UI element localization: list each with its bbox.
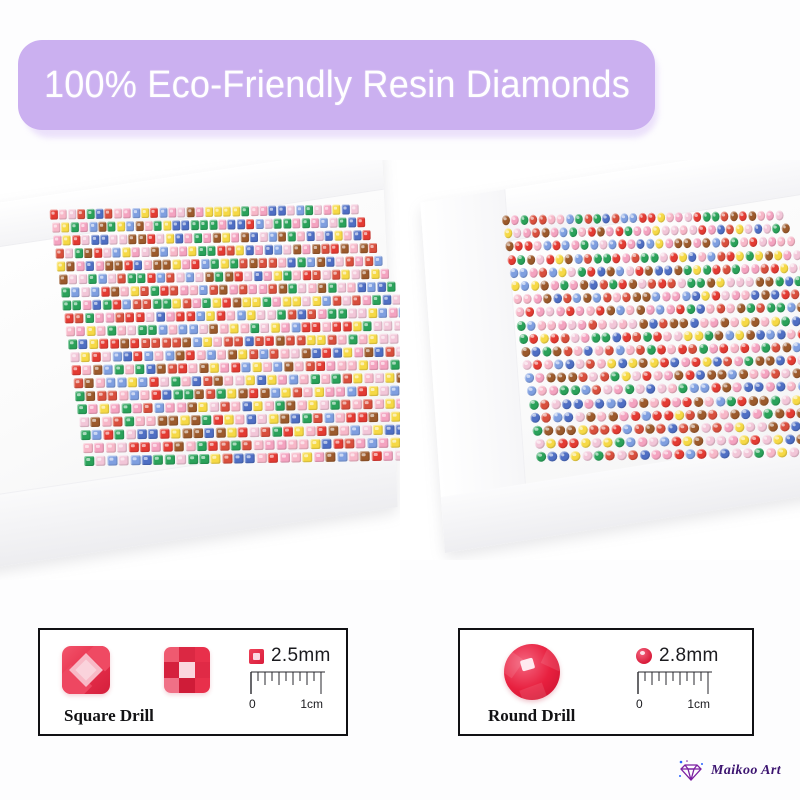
bead: [609, 319, 618, 329]
bead: [126, 221, 134, 231]
bead: [202, 298, 211, 308]
bead: [206, 389, 216, 399]
bead: [317, 335, 326, 345]
bead: [374, 399, 384, 409]
bead: [272, 427, 282, 437]
bead: [65, 248, 74, 258]
bead: [694, 331, 703, 341]
bead: [678, 278, 687, 288]
bead: [178, 363, 187, 373]
bead: [787, 237, 795, 247]
bead: [337, 283, 346, 293]
bead: [679, 225, 687, 235]
bead: [567, 267, 576, 277]
bead: [600, 372, 610, 382]
bead: [669, 252, 678, 262]
bead: [763, 224, 771, 234]
bead: [609, 279, 618, 289]
bead: [190, 415, 200, 425]
bead: [87, 326, 96, 336]
bead: [587, 266, 596, 276]
bead: [341, 269, 350, 279]
bead: [598, 319, 607, 329]
bead: [257, 310, 266, 320]
round-drill-photo: [400, 160, 800, 560]
bead: [135, 416, 145, 426]
bead: [82, 365, 91, 375]
bead: [96, 261, 105, 271]
bead: [532, 426, 542, 436]
bead: [299, 439, 309, 449]
bead: [242, 297, 251, 307]
bead: [612, 253, 621, 263]
bead: [228, 284, 237, 294]
bead: [326, 257, 335, 267]
bead: [149, 377, 159, 387]
bead: [169, 324, 178, 334]
bead: [734, 356, 743, 366]
bead: [358, 334, 367, 344]
bead: [322, 348, 331, 358]
bead: [320, 374, 330, 384]
bead: [622, 253, 631, 263]
bead: [345, 256, 354, 266]
bead: [165, 311, 174, 321]
bead: [557, 214, 565, 224]
bead: [198, 246, 207, 256]
bead: [108, 274, 117, 284]
bead: [771, 369, 781, 379]
bead: [730, 211, 738, 221]
bead: [366, 282, 375, 292]
headline-banner: 100% Eco-Friendly Resin Diamonds: [18, 40, 655, 130]
bead: [602, 293, 611, 303]
bead: [186, 207, 194, 217]
bead: [231, 401, 241, 411]
bead: [241, 206, 249, 216]
bead: [312, 296, 321, 306]
bead: [262, 297, 271, 307]
bead: [115, 312, 124, 322]
bead: [673, 265, 682, 275]
bead: [527, 386, 537, 396]
bead: [605, 451, 615, 461]
bead: [546, 373, 556, 383]
bead: [342, 373, 352, 383]
bead: [704, 396, 714, 406]
bead: [562, 241, 570, 251]
bead: [557, 438, 567, 448]
bead: [256, 375, 266, 385]
bead: [227, 388, 237, 398]
bead: [195, 272, 204, 282]
bead: [347, 217, 355, 227]
bead: [148, 429, 158, 439]
bead: [754, 382, 764, 392]
bead: [165, 455, 175, 465]
bead: [719, 409, 729, 419]
bead-row: [527, 380, 800, 396]
bead: [675, 212, 683, 222]
bead: [508, 255, 517, 265]
bead: [605, 398, 615, 408]
bead: [151, 338, 160, 348]
bead: [174, 441, 184, 451]
bead: [95, 209, 103, 219]
bead: [521, 281, 530, 291]
bead: [555, 307, 564, 317]
bead: [124, 260, 133, 270]
bead: [698, 251, 707, 261]
bead: [248, 349, 257, 359]
bead: [781, 224, 789, 234]
bead: [563, 293, 572, 303]
bead: [269, 232, 277, 242]
bead: [310, 218, 318, 228]
bead: [776, 303, 785, 313]
bead: [141, 338, 150, 348]
bead: [176, 402, 186, 412]
bead: [693, 265, 702, 275]
bead: [160, 247, 169, 257]
bead: [268, 284, 277, 294]
bead: [140, 286, 149, 296]
bead: [787, 329, 796, 339]
bead: [573, 293, 582, 303]
bead: [730, 409, 740, 419]
bead: [352, 295, 361, 305]
bead: [353, 230, 361, 240]
bead: [679, 252, 688, 262]
bead: [533, 360, 542, 370]
bead: [230, 440, 240, 450]
bead: [231, 232, 239, 242]
bead: [325, 387, 335, 397]
bead: [684, 212, 692, 222]
bead: [682, 397, 692, 407]
bead: [150, 208, 158, 218]
bead: [220, 363, 229, 373]
bead: [594, 345, 603, 355]
bead: [329, 218, 337, 228]
bead: [374, 256, 383, 266]
bead: [686, 410, 696, 420]
bead: [330, 244, 339, 254]
bead: [122, 247, 131, 257]
bead: [164, 351, 173, 361]
bead: [231, 362, 240, 372]
bead: [301, 413, 311, 423]
bead: [126, 429, 136, 439]
bead: [657, 213, 665, 223]
bead: [682, 436, 692, 446]
square-size-swatch-icon: [249, 649, 264, 664]
bead: [264, 401, 274, 411]
bead: [358, 386, 368, 396]
bead: [135, 221, 143, 231]
bead: [392, 295, 400, 305]
bead: [66, 326, 75, 336]
bead: [358, 360, 367, 370]
bead-row: [509, 262, 800, 278]
bead: [707, 251, 716, 261]
bead: [661, 226, 669, 236]
bead: [216, 428, 226, 438]
bead: [244, 336, 253, 346]
bead: [264, 245, 273, 255]
bead: [619, 279, 628, 289]
bead: [646, 305, 655, 315]
bead: [167, 363, 176, 373]
bead: [230, 258, 239, 268]
bead: [241, 232, 249, 242]
bead: [73, 300, 82, 310]
bead: [519, 334, 528, 344]
bead: [199, 324, 208, 334]
bead: [302, 270, 311, 280]
bead: [776, 329, 785, 339]
bead: [245, 375, 255, 385]
bead: [249, 258, 258, 268]
bead: [781, 369, 791, 379]
bead: [123, 416, 133, 426]
bead: [642, 371, 652, 381]
bead: [357, 282, 366, 292]
bead: [782, 342, 791, 352]
bead: [612, 332, 621, 342]
bead: [677, 344, 686, 354]
bead: [325, 231, 333, 241]
bead: [269, 258, 278, 268]
bead: [612, 292, 621, 302]
bead: [638, 397, 648, 407]
bead: [362, 295, 371, 305]
bead: [717, 277, 726, 287]
bead: [90, 287, 99, 297]
bead: [153, 221, 161, 231]
bead: [653, 331, 662, 341]
bead: [210, 363, 219, 373]
bead: [557, 373, 567, 383]
bead: [286, 335, 295, 345]
bead: [114, 429, 124, 439]
bead: [98, 274, 107, 284]
bead: [383, 451, 393, 461]
bead: [618, 358, 627, 368]
bead: [735, 330, 744, 340]
bead: [89, 339, 98, 349]
bead: [132, 208, 140, 218]
bead: [159, 208, 167, 218]
bead: [636, 345, 645, 355]
bead: [272, 297, 281, 307]
bead-row: [513, 289, 800, 305]
bead: [786, 408, 796, 418]
bead: [205, 207, 213, 217]
bead: [238, 427, 248, 437]
bead-row: [504, 223, 800, 238]
bead: [179, 285, 188, 295]
bead: [369, 386, 379, 396]
bead: [540, 399, 550, 409]
bead: [584, 346, 593, 356]
bead: [541, 228, 549, 238]
bead: [332, 296, 341, 306]
bead: [112, 351, 121, 361]
bead: [529, 267, 538, 277]
bead: [639, 358, 648, 368]
bead: [672, 291, 681, 301]
bead: [92, 430, 102, 440]
bead: [119, 455, 129, 465]
bead: [795, 434, 800, 444]
bead: [296, 205, 304, 215]
bead: [327, 309, 336, 319]
bead: [561, 399, 571, 409]
bead: [632, 292, 641, 302]
bead: [726, 304, 735, 314]
bead: [201, 415, 211, 425]
bead: [775, 210, 783, 220]
bead: [646, 384, 656, 394]
bead: [328, 426, 338, 436]
bead: [268, 414, 278, 424]
bead: [703, 238, 711, 248]
bead: [766, 448, 776, 458]
bead: [785, 276, 794, 286]
bead: [730, 343, 739, 353]
bead: [143, 403, 153, 413]
bead: [308, 400, 318, 410]
checker-cell: [164, 678, 179, 693]
bead: [712, 423, 722, 433]
bead: [566, 214, 574, 224]
bead: [130, 338, 139, 348]
bead-row: [534, 433, 800, 449]
bead: [162, 299, 171, 309]
bead: [273, 245, 282, 255]
bead: [583, 398, 593, 408]
bead: [278, 206, 286, 216]
bead: [306, 231, 314, 241]
bead: [140, 390, 150, 400]
bead: [652, 226, 660, 236]
bead: [548, 386, 558, 396]
bead: [571, 240, 579, 250]
bead: [748, 211, 756, 221]
bead: [102, 300, 111, 310]
bead: [601, 332, 610, 342]
bead: [98, 222, 106, 232]
bead: [700, 383, 710, 393]
bead: [766, 303, 775, 313]
bead: [123, 208, 131, 218]
bead: [750, 435, 760, 445]
bead: [314, 205, 322, 215]
bead: [656, 239, 664, 249]
bead: [664, 371, 674, 381]
bead: [91, 352, 100, 362]
bead: [305, 361, 314, 371]
bead: [626, 305, 635, 315]
bead: [367, 438, 377, 448]
bead: [310, 439, 320, 449]
bead: [720, 317, 729, 327]
bead: [610, 372, 620, 382]
bead: [728, 370, 738, 380]
bead-row: [511, 276, 800, 292]
bead: [116, 221, 124, 231]
bead: [787, 355, 796, 365]
bead: [100, 235, 108, 245]
bead: [201, 259, 210, 269]
bead: [629, 318, 638, 328]
bead: [687, 278, 696, 288]
bead: [761, 343, 770, 353]
bead: [279, 414, 289, 424]
bead: [193, 428, 203, 438]
bead: [261, 427, 271, 437]
bead: [544, 360, 553, 370]
bead: [307, 257, 316, 267]
bead: [142, 299, 151, 309]
bead: [716, 304, 725, 314]
bead: [242, 401, 252, 411]
bead: [756, 277, 765, 287]
bead: [332, 348, 341, 358]
bead: [513, 294, 522, 304]
bead: [242, 440, 252, 450]
bead: [550, 333, 559, 343]
bead: [532, 228, 540, 238]
bead: [135, 364, 144, 374]
bead: [529, 333, 538, 343]
bead: [696, 370, 706, 380]
bead: [297, 231, 305, 241]
bead: [568, 227, 576, 237]
bead: [559, 227, 567, 237]
bead: [302, 244, 311, 254]
bead: [529, 215, 537, 225]
bead: [620, 213, 628, 223]
bead: [779, 263, 788, 273]
bead: [649, 318, 658, 328]
bead: [581, 385, 591, 395]
bead: [222, 233, 230, 243]
round-size-swatch-icon: [636, 648, 652, 664]
bead: [130, 390, 140, 400]
bead: [110, 286, 119, 296]
bead: [322, 296, 331, 306]
bead: [548, 267, 557, 277]
bead: [81, 430, 91, 440]
bead: [707, 225, 715, 235]
bead: [142, 455, 152, 465]
bead: [145, 312, 154, 322]
bead: [663, 331, 672, 341]
bead: [189, 285, 198, 295]
bead: [646, 239, 654, 249]
bead: [603, 253, 612, 263]
bead: [751, 290, 760, 300]
bead: [335, 413, 345, 423]
bead: [213, 376, 223, 386]
bead: [693, 436, 703, 446]
bead: [234, 453, 244, 463]
bead: [59, 209, 67, 219]
bead: [198, 402, 208, 412]
bead: [254, 271, 263, 281]
